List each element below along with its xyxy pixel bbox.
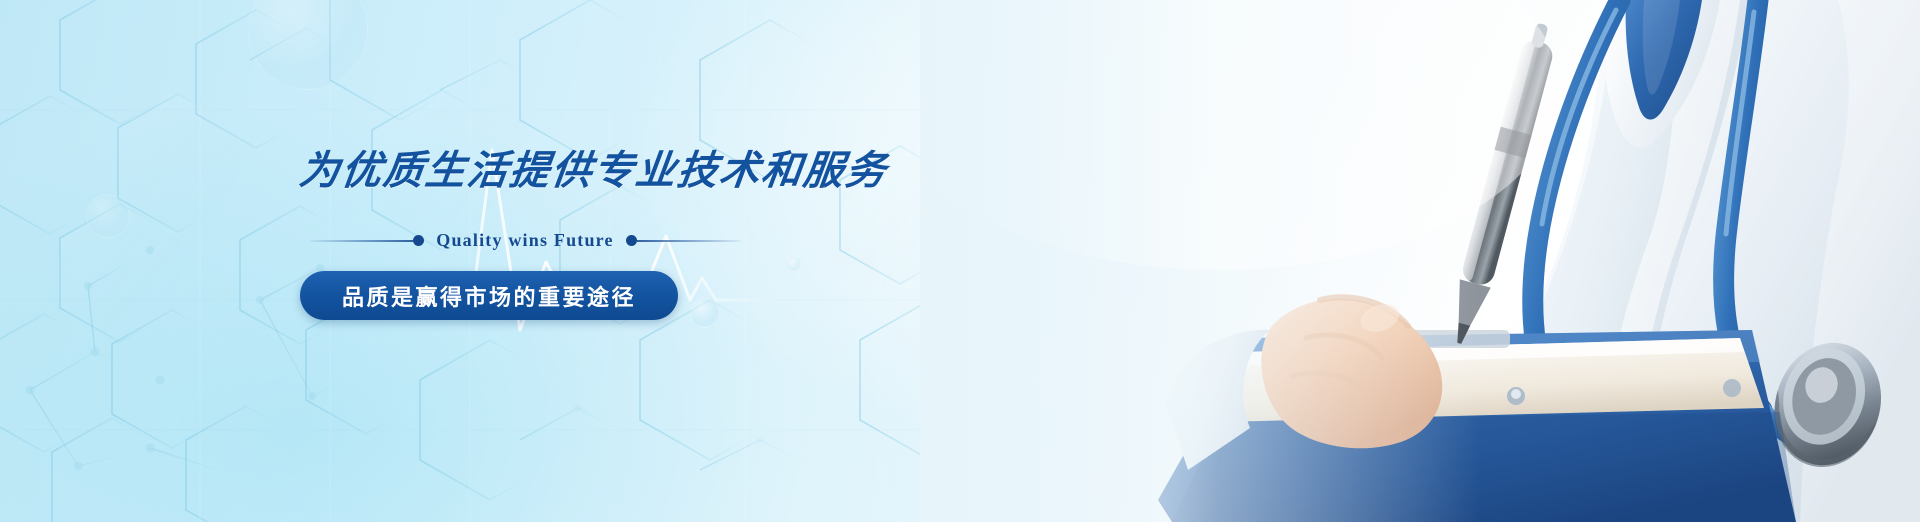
banner-content: 为优质生活提供专业技术和服务 Quality wins Future 品质是赢得… bbox=[300, 138, 940, 320]
banner-subtitle-row: Quality wins Future bbox=[310, 230, 740, 251]
subtitle-line-right bbox=[637, 240, 740, 242]
banner-subtitle: Quality wins Future bbox=[424, 230, 626, 251]
subtitle-dot-left bbox=[413, 235, 424, 246]
doctor-photo bbox=[920, 0, 1920, 522]
cta-button[interactable]: 品质是赢得市场的重要途径 bbox=[300, 271, 678, 320]
subtitle-dot-right bbox=[626, 235, 637, 246]
banner-headline: 为优质生活提供专业技术和服务 bbox=[296, 138, 943, 196]
hero-banner: 为优质生活提供专业技术和服务 Quality wins Future 品质是赢得… bbox=[0, 0, 1920, 522]
subtitle-line-left bbox=[310, 240, 413, 242]
photo-left-fade bbox=[920, 0, 1220, 522]
